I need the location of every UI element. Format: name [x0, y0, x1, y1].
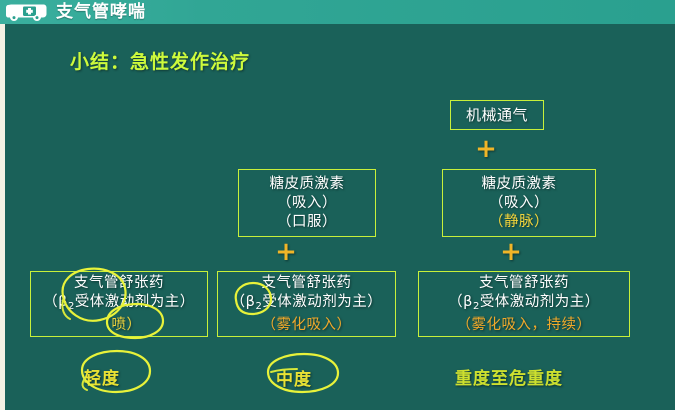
severity-label-moderate: 中度: [276, 365, 312, 390]
bd-left-post: 受体激动剂为主）: [75, 294, 195, 310]
corticosteroid-right-line-2: （吸入）: [489, 194, 549, 213]
bronchodilator-left-line-2: （β2受体激动剂为主）: [43, 293, 195, 316]
header-title: 支气管哮喘: [56, 1, 146, 23]
plus-icon-middle: +: [275, 241, 297, 263]
corticosteroid-middle-line-2: （吸入）: [277, 194, 337, 213]
bronchodilator-middle-line-3: （雾化吸入）: [262, 316, 352, 335]
corticosteroid-right-box: 糖皮质激素 （吸入） （静脉）: [442, 169, 596, 237]
bd-left-subscript: 2: [68, 301, 75, 312]
page-title: 小结：急性发作治疗: [70, 47, 250, 74]
left-edge-strip: [0, 22, 5, 410]
bd-right-pre: （β: [448, 294, 473, 310]
bronchodilator-right-line-3: （雾化吸入，持续）: [457, 316, 592, 335]
mechanical-ventilation-box: 机械通气: [450, 100, 544, 130]
bronchodilator-left-line-3: （喷）: [97, 316, 142, 335]
bronchodilator-middle-box: 支气管舒张药 （β2受体激动剂为主） （雾化吸入）: [217, 271, 396, 337]
bronchodilator-middle-line-2: （β2受体激动剂为主）: [231, 293, 383, 316]
mechanical-ventilation-label: 机械通气: [466, 106, 528, 125]
bronchodilator-left-box: 支气管舒张药 （β2受体激动剂为主） （喷）: [30, 271, 208, 337]
bronchodilator-right-box: 支气管舒张药 （β2受体激动剂为主） （雾化吸入，持续）: [418, 271, 630, 337]
corticosteroid-middle-line-3: （口服）: [277, 213, 337, 232]
ambulance-icon: [5, 1, 53, 23]
corticosteroid-middle-line-1: 糖皮质激素: [270, 175, 345, 194]
bd-left-pre: （β: [43, 294, 68, 310]
bd-right-subscript: 2: [473, 301, 480, 312]
corticosteroid-right-line-1: 糖皮质激素: [482, 175, 557, 194]
plus-icon-right: +: [500, 241, 522, 263]
bronchodilator-right-line-1: 支气管舒张药: [479, 274, 569, 293]
bronchodilator-left-line-1: 支气管舒张药: [74, 274, 164, 293]
plus-icon-ventilation: +: [475, 138, 497, 160]
severity-label-mild: 轻度: [84, 364, 120, 389]
slide-canvas: 支气管哮喘 小结：急性发作治疗 机械通气 + 糖皮质激素 （吸入） （口服） +…: [0, 0, 675, 410]
corticosteroid-middle-box: 糖皮质激素 （吸入） （口服）: [238, 169, 376, 237]
corticosteroid-right-line-3: （静脉）: [489, 213, 549, 232]
severity-label-severe: 重度至危重度: [455, 364, 563, 389]
bronchodilator-right-line-2: （β2受体激动剂为主）: [448, 293, 600, 316]
bd-right-post: 受体激动剂为主）: [480, 294, 600, 310]
bd-mid-post: 受体激动剂为主）: [262, 294, 382, 310]
bd-mid-pre: （β: [231, 294, 256, 310]
bronchodilator-middle-line-1: 支气管舒张药: [262, 274, 352, 293]
